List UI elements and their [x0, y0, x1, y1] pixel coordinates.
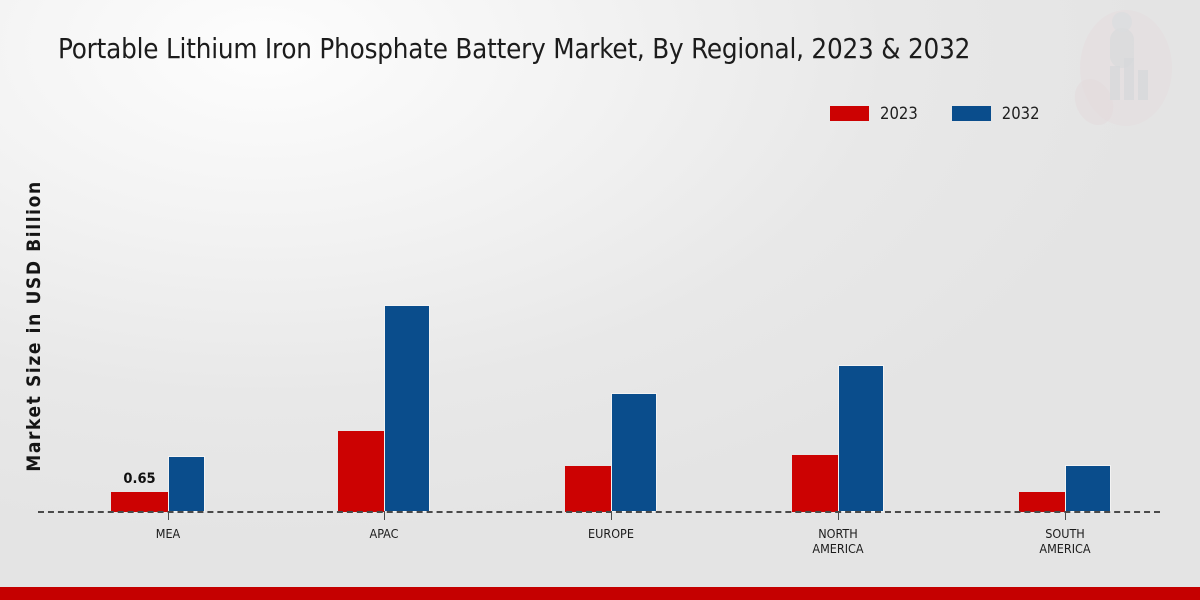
bar-2023[interactable]	[565, 466, 611, 512]
legend-swatch-2023	[830, 106, 869, 121]
plot-area: 0.65	[38, 150, 1160, 512]
bar-2023[interactable]	[338, 431, 384, 512]
bar-2032[interactable]	[1065, 465, 1111, 512]
chart-title: Portable Lithium Iron Phosphate Battery …	[58, 33, 970, 65]
legend-label-2023: 2023	[880, 104, 918, 123]
bar-2023[interactable]: 0.65	[111, 492, 168, 512]
x-axis-category-label: NORTH AMERICA	[798, 526, 878, 556]
bar-2023[interactable]	[1019, 492, 1065, 512]
footer-accent-bar	[0, 587, 1200, 600]
x-axis-category-label: EUROPE	[571, 526, 651, 541]
bar-group	[565, 393, 657, 512]
legend-label-2032: 2032	[1002, 104, 1040, 123]
x-axis-baseline	[38, 511, 1160, 513]
legend-item-2032[interactable]: 2032	[952, 104, 1040, 123]
x-axis-tick	[168, 511, 169, 520]
legend-swatch-2032	[952, 106, 991, 121]
bar-value-label: 0.65	[123, 471, 155, 487]
bar-group	[792, 365, 884, 512]
x-axis-tick	[838, 511, 839, 520]
bar-2032[interactable]	[838, 365, 884, 512]
x-axis-tick	[384, 511, 385, 520]
x-axis-tick	[1065, 511, 1066, 520]
bar-2032[interactable]	[611, 393, 657, 512]
watermark-logo-icon	[1066, 6, 1186, 131]
bar-2023[interactable]	[792, 455, 838, 512]
bar-2032[interactable]	[168, 456, 205, 512]
legend-item-2023[interactable]: 2023	[830, 104, 918, 123]
chart-canvas: Portable Lithium Iron Phosphate Battery …	[0, 0, 1200, 600]
x-axis-category-label: MEA	[128, 526, 208, 541]
x-axis-category-label: SOUTH AMERICA	[1025, 526, 1105, 556]
bar-group	[338, 305, 430, 512]
x-axis-tick	[611, 511, 612, 520]
bar-2032[interactable]	[384, 305, 430, 512]
chart-legend: 2023 2032	[830, 104, 1040, 123]
bar-group: 0.65	[111, 456, 205, 512]
bar-group	[1019, 465, 1111, 512]
x-axis-category-label: APAC	[344, 526, 424, 541]
